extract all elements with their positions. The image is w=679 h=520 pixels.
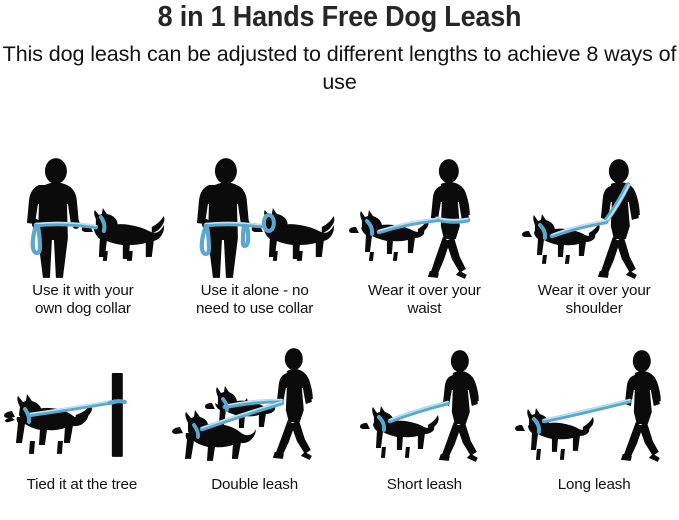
panel-caption: Long leash: [556, 476, 633, 494]
panel-tied-at-tree: Tied it at the tree: [0, 345, 170, 520]
illustration-person-walking-leash-across-shoulder-with-dog: [509, 155, 679, 280]
panel-caption: Wear it over your shoulder: [536, 282, 653, 318]
panel-use-alone-no-collar: Use it alone - no need to use collar: [170, 155, 340, 345]
panel-row-top: Use it with your own dog collar: [0, 155, 679, 345]
illustration-dog-tied-to-post: [0, 345, 170, 470]
panel-caption: Short leash: [385, 476, 464, 494]
panel-row-bottom: Tied it at the tree: [0, 345, 679, 520]
usage-panel-grid: Use it with your own dog collar: [0, 155, 679, 520]
illustration-person-walking-two-dogs-double-leash: [170, 345, 340, 470]
page-title: 8 in 1 Hands Free Dog Leash: [24, 0, 655, 33]
illustration-person-standing-with-dog-leash-as-collar: [170, 155, 340, 280]
panel-wear-over-shoulder: Wear it over your shoulder: [509, 155, 679, 345]
panel-double-leash: Double leash: [170, 345, 340, 520]
panel-caption: Wear it over your waist: [366, 282, 483, 318]
page-subtitle: This dog leash can be adjusted to differ…: [0, 33, 679, 97]
panel-short-leash: Short leash: [340, 345, 510, 520]
panel-use-with-own-collar: Use it with your own dog collar: [0, 155, 170, 345]
panel-long-leash: Long leash: [509, 345, 679, 520]
illustration-person-walking-dog-short-leash: [340, 345, 510, 470]
panel-caption: Use it with your own dog collar: [30, 282, 135, 318]
panel-caption: Double leash: [209, 476, 300, 494]
illustration-person-walking-dog-long-leash: [509, 345, 679, 470]
infographic-header: 8 in 1 Hands Free Dog Leash This dog lea…: [0, 0, 679, 96]
illustration-person-standing-with-dog-on-collar-leash: [0, 155, 170, 280]
panel-caption: Tied it at the tree: [25, 476, 140, 494]
illustration-person-walking-leash-around-waist-with-dog: [340, 155, 510, 280]
panel-caption: Use it alone - no need to use collar: [194, 282, 315, 318]
panel-wear-over-waist: Wear it over your waist: [340, 155, 510, 345]
